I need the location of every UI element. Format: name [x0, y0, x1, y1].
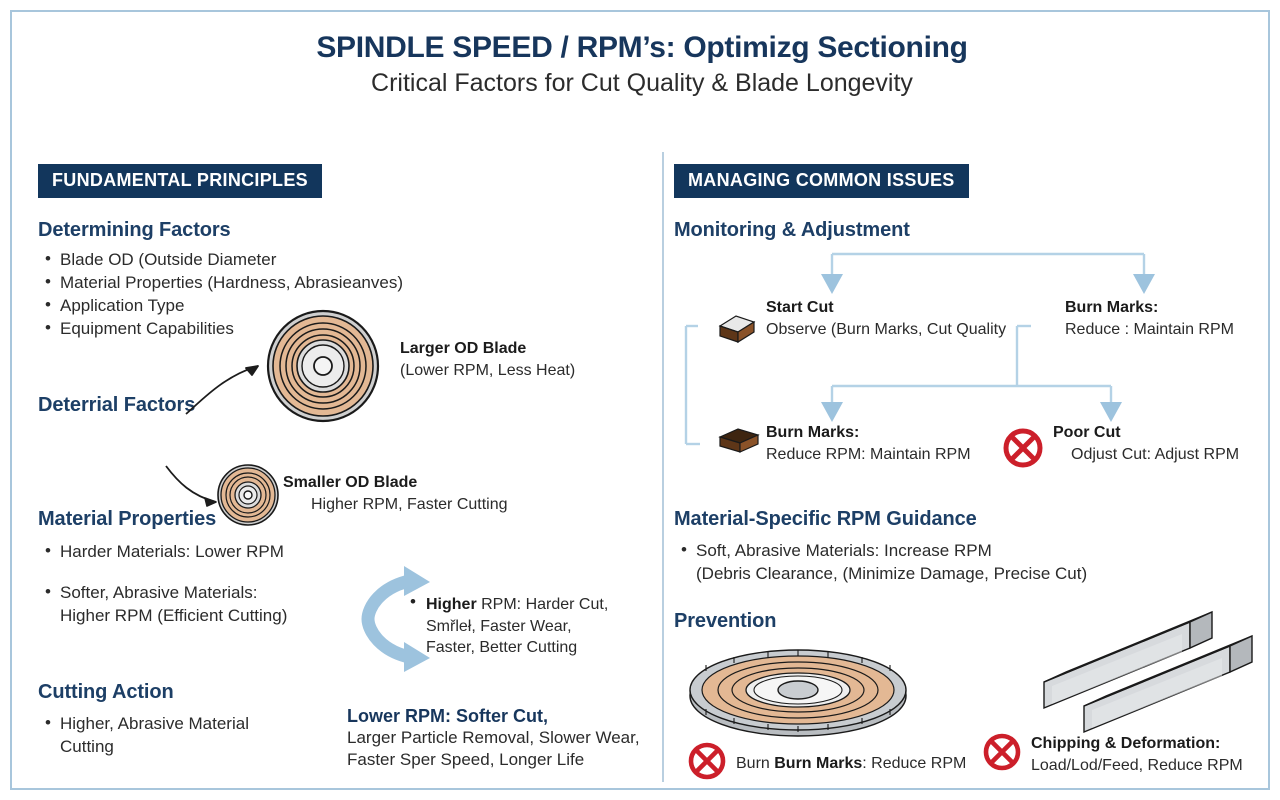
- error-icon: [688, 742, 726, 780]
- guidance-block: Material-Specific RPM Guidance Soft, Abr…: [674, 508, 1274, 585]
- smaller-od-blade-caption: Smaller OD Blade Higher RPM, Faster Cutt…: [283, 473, 508, 515]
- cycle-line3: Faster, Better Cutting: [426, 637, 650, 658]
- caption-title: Smaller OD Blade: [283, 473, 508, 494]
- cycle-callout: • Higher RPM: Harder Cut, Smřleł, Faster…: [410, 594, 650, 658]
- list-item-line1: Higher, Abrasive Material: [60, 714, 249, 733]
- pointer-arrow-large-blade: [180, 334, 288, 418]
- bars-caption: Chipping & Deformation: Load/Lod/Feed, R…: [1031, 734, 1243, 776]
- list-item-line1: Softer, Abrasive Materials:: [60, 583, 257, 602]
- band-fundamental-principles: FUNDAMENTAL PRINCIPLES: [38, 164, 322, 198]
- flow-node-subtitle: Reduce RPM: Maintain RPM: [766, 444, 971, 465]
- lower-rpm-callout: Lower RPM: Softer Cut, Larger Particle R…: [347, 706, 667, 772]
- title-block: SPINDLE SPEED / RPM’s: Optimizg Sectioni…: [12, 30, 1272, 98]
- prevention-block: Prevention: [674, 610, 776, 633]
- flow-node-burn-marks-bottom: Burn Marks: Reduce RPM: Maintain RPM: [766, 423, 971, 465]
- flow-node-subtitle: Observe (Burn Marks, Cut Quality: [766, 319, 1006, 340]
- flow-node-burn-marks-top: Burn Marks: Reduce : Maintain RPM: [1065, 298, 1234, 340]
- list-item-line2: (Debris Clearance, (Minimize Damage, Pre…: [696, 564, 1087, 583]
- caption-subtitle: (Lower RPM, Less Heat): [400, 360, 575, 381]
- cycle-bullet-bold: Higher: [426, 596, 477, 613]
- caption-title: Larger OD Blade: [400, 339, 575, 360]
- flow-node-title: Burn Marks:: [1065, 298, 1234, 319]
- list-item: Blade OD (Outside Diameter: [38, 248, 653, 271]
- cube-icon: [716, 425, 762, 457]
- cube-icon: [716, 312, 758, 346]
- larger-od-blade-caption: Larger OD Blade (Lower RPM, Less Heat): [400, 339, 575, 381]
- list-item-line2: Cutting: [60, 737, 114, 756]
- lower-rpm-title: Lower RPM: Softer Cut,: [347, 706, 667, 727]
- metal-bars-illustration: [1032, 620, 1254, 732]
- caption-bold: Burn Marks: [774, 755, 862, 772]
- flow-node-title: Poor Cut: [1053, 423, 1239, 444]
- left-column: FUNDAMENTAL PRINCIPLES Determining Facto…: [38, 164, 653, 758]
- band-managing-common-issues: MANAGING COMMON ISSUES: [674, 164, 969, 198]
- caption-title: Chipping & Deformation:: [1031, 734, 1243, 755]
- caption-subtitle: Load/Lod/Feed, Reduce RPM: [1031, 755, 1243, 776]
- wheel-caption: Burn Burn Marks: Reduce RPM: [736, 753, 966, 775]
- caption-subtitle: Higher RPM, Faster Cutting: [311, 494, 508, 515]
- list-item-line1: Soft, Abrasive Materials: Increase RPM: [696, 541, 992, 560]
- list-item: Soft, Abrasive Materials: Increase RPM (…: [674, 539, 1274, 585]
- heading-prevention: Prevention: [674, 610, 776, 633]
- heading-material-specific-rpm-guidance: Material-Specific RPM Guidance: [674, 508, 1274, 531]
- column-divider: [662, 152, 664, 782]
- page-subtitle: Critical Factors for Cut Quality & Blade…: [12, 68, 1272, 98]
- list-guidance: Soft, Abrasive Materials: Increase RPM (…: [674, 539, 1274, 585]
- infographic-frame: SPINDLE SPEED / RPM’s: Optimizg Sectioni…: [10, 10, 1270, 790]
- pointer-arrow-small-blade: [162, 460, 230, 512]
- flow-node-start-cut: Start Cut Observe (Burn Marks, Cut Quali…: [766, 298, 1006, 340]
- grinding-wheel-illustration: [688, 640, 914, 740]
- flow-node-title: Start Cut: [766, 298, 1006, 319]
- error-icon: [983, 733, 1021, 771]
- cycle-line2: Smřleł, Faster Wear,: [426, 616, 650, 637]
- list-item: Material Properties (Hardness, Abrasiean…: [38, 271, 653, 294]
- lower-rpm-line3: Faster Sper Speed, Longer Life: [347, 749, 667, 771]
- flow-node-poor-cut: Poor Cut Odjust Cut: Adjust RPM: [1053, 423, 1239, 465]
- page-title: SPINDLE SPEED / RPM’s: Optimizg Sectioni…: [12, 30, 1272, 65]
- right-column: MANAGING COMMON ISSUES Monitoring & Adju…: [674, 164, 1272, 242]
- flow-node-title: Burn Marks:: [766, 423, 971, 444]
- list-item: Harder Materials: Lower RPM: [38, 540, 653, 563]
- flow-node-subtitle: Odjust Cut: Adjust RPM: [1071, 444, 1239, 465]
- caption-rest: : Reduce RPM: [862, 755, 966, 772]
- bullet-glyph: •: [410, 592, 416, 612]
- caption-pre: Burn: [736, 755, 774, 772]
- error-icon: [1003, 428, 1043, 468]
- heading-determining-factors: Determining Factors: [38, 219, 653, 242]
- lower-rpm-line2: Larger Particle Removal, Slower Wear,: [347, 727, 667, 749]
- heading-monitoring-adjustment: Monitoring & Adjustment: [674, 219, 1272, 242]
- heading-cutting-action: Cutting Action: [38, 681, 653, 704]
- flow-node-subtitle: Reduce : Maintain RPM: [1065, 319, 1234, 340]
- cycle-bullet-rest: RPM: Harder Cut,: [477, 596, 609, 613]
- list-item-line2: Higher RPM (Efficient Cutting): [60, 606, 287, 625]
